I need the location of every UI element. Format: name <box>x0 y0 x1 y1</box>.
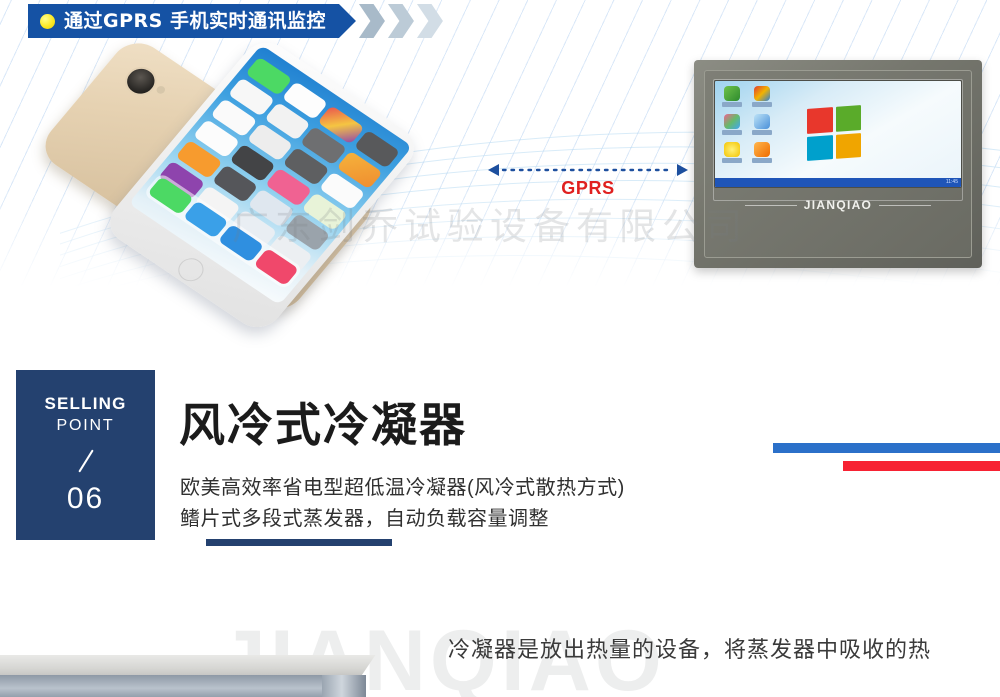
slash-divider-icon <box>78 449 93 472</box>
flash-icon <box>155 85 167 96</box>
selling-point-line2: POINT <box>57 417 115 435</box>
hmi-app-icon[interactable] <box>721 142 743 168</box>
brand-divider-right <box>879 205 931 206</box>
accent-bar-blue <box>773 443 1000 453</box>
accent-bar-red <box>843 461 1000 471</box>
hmi-brand-row: JIANQIAO <box>714 198 962 212</box>
chevron-right-icon <box>417 4 443 38</box>
section-description: 欧美高效率省电型超低温冷凝器(风冷式散热方式) 鳍片式多段式蒸发器，自动负载容量… <box>180 473 625 535</box>
hmi-taskbar: 11:45 <box>715 178 961 187</box>
hmi-app-icon[interactable] <box>721 86 743 112</box>
banner-title: 通过GPRS 手机实时通讯监控 <box>64 12 326 31</box>
brand-divider-left <box>745 205 797 206</box>
hmi-app-icon[interactable] <box>751 86 773 112</box>
windows-logo-icon <box>807 105 861 161</box>
banner-arrow: 通过GPRS 手机实时通讯监控 <box>28 4 356 38</box>
description-line-2: 鳍片式多段式蒸发器，自动负载容量调整 <box>180 504 625 535</box>
selling-point-line1: SELLING <box>44 394 126 414</box>
smartphone-illustration: iPhone <box>40 42 460 292</box>
camera-icon <box>119 61 163 101</box>
equipment-body <box>0 675 322 697</box>
hmi-app-icon[interactable] <box>751 114 773 140</box>
page-canvas: 通过GPRS 手机实时通讯监控 iPhone <box>0 0 1000 697</box>
chevron-right-icon <box>359 4 385 38</box>
hmi-app-icon[interactable] <box>721 114 743 140</box>
chevron-right-icon <box>388 4 414 38</box>
description-line-1: 欧美高效率省电型超低温冷凝器(风冷式散热方式) <box>180 473 625 504</box>
yellow-dot-icon <box>40 14 55 29</box>
footer-description: 冷凝器是放出热量的设备，将蒸发器中吸收的热 <box>448 632 931 664</box>
gprs-arrow-icon <box>488 164 688 176</box>
company-watermark: 广东剑乔试验设备有限公司 <box>232 196 748 250</box>
equipment-edge <box>322 675 366 697</box>
hmi-brand-label: JIANQIAO <box>804 198 872 212</box>
selling-point-badge: SELLING POINT 06 <box>16 370 155 540</box>
hmi-screen: 11:45 <box>714 80 962 188</box>
equipment-photo <box>0 655 392 697</box>
hmi-icon-column <box>719 85 777 169</box>
equipment-top-panel <box>0 655 375 677</box>
hmi-clock: 11:45 <box>946 179 958 185</box>
selling-point-number: 06 <box>67 482 104 516</box>
hmi-app-icon[interactable] <box>751 142 773 168</box>
section-title: 风冷式冷凝器 <box>179 402 467 448</box>
header-banner: 通过GPRS 手机实时通讯监控 <box>28 4 443 38</box>
home-button-icon <box>173 254 208 286</box>
title-underline <box>206 539 392 546</box>
